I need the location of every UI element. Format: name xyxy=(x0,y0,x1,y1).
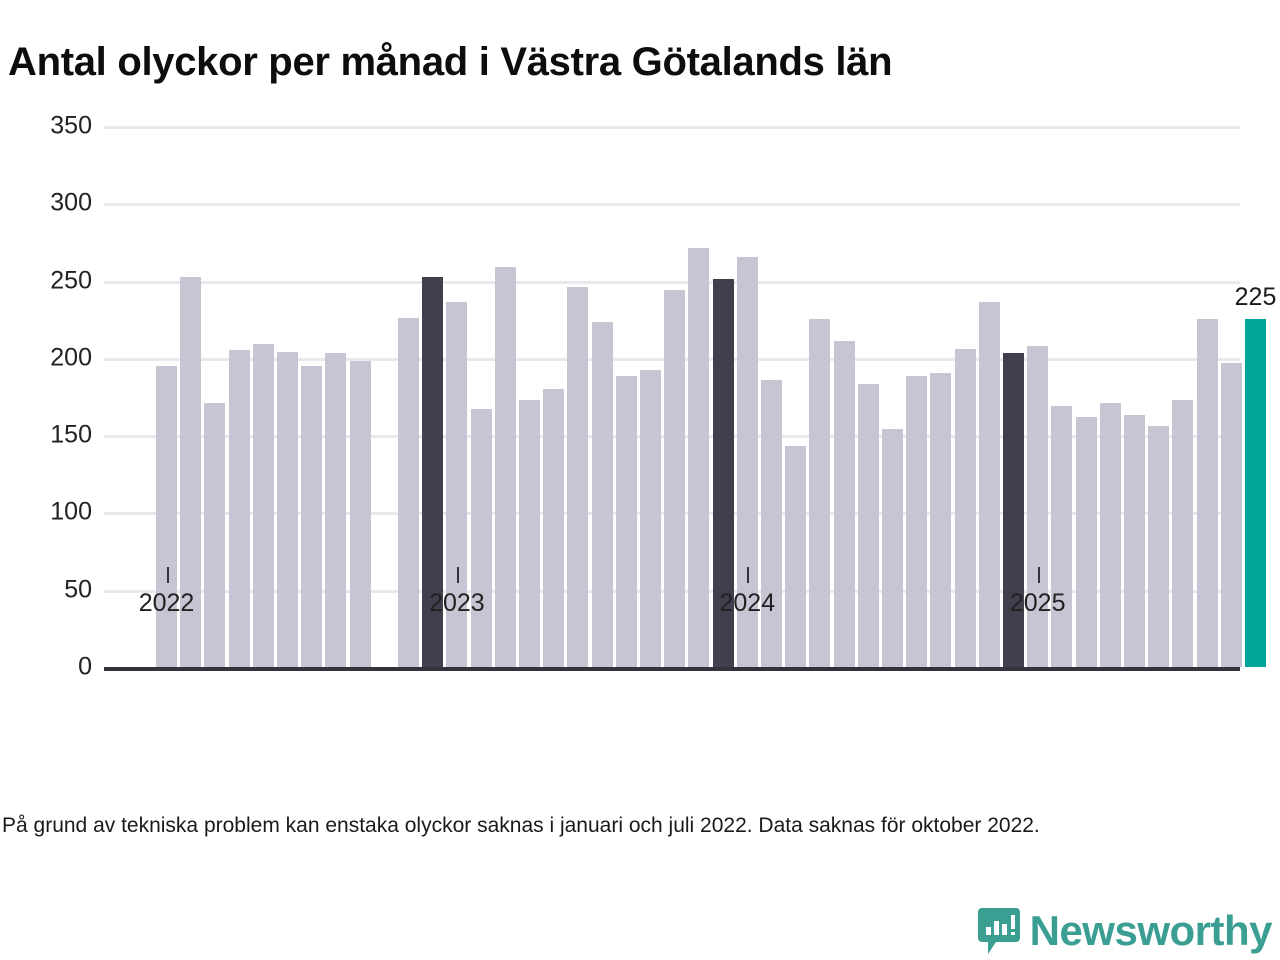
y-tick-label: 0 xyxy=(78,655,92,680)
bar-chart-bubble-icon xyxy=(978,908,1020,954)
x-tick xyxy=(1038,567,1040,583)
x-tick-label: 2024 xyxy=(719,589,775,617)
x-tick xyxy=(457,567,459,583)
x-tick-label: 2023 xyxy=(429,589,485,617)
y-tick-label: 100 xyxy=(50,500,92,525)
x-tick xyxy=(747,567,749,583)
y-tick-label: 250 xyxy=(50,268,92,293)
chart-page: Antal olyckor per månad i Västra Götalan… xyxy=(0,0,1280,960)
logo-wordmark: Newsworthy xyxy=(1030,909,1272,953)
y-tick-label: 50 xyxy=(64,577,92,602)
x-tick-label: 2025 xyxy=(1010,589,1066,617)
x-tick-label: 2022 xyxy=(139,589,195,617)
y-axis: 050100150200250300350 xyxy=(0,100,100,720)
bar[interactable] xyxy=(1245,319,1266,667)
y-tick-label: 350 xyxy=(50,114,92,139)
footnote-text: På grund av tekniska problem kan enstaka… xyxy=(2,811,1232,840)
x-axis: 2022202320242025 xyxy=(104,567,1240,637)
bar-value-label: 225 xyxy=(1235,285,1277,310)
x-tick xyxy=(167,567,169,583)
y-tick-label: 300 xyxy=(50,191,92,216)
y-tick-label: 150 xyxy=(50,423,92,448)
newsworthy-logo[interactable]: Newsworthy xyxy=(978,908,1272,954)
page-title: Antal olyckor per månad i Västra Götalan… xyxy=(8,39,1268,85)
y-tick-label: 200 xyxy=(50,345,92,370)
